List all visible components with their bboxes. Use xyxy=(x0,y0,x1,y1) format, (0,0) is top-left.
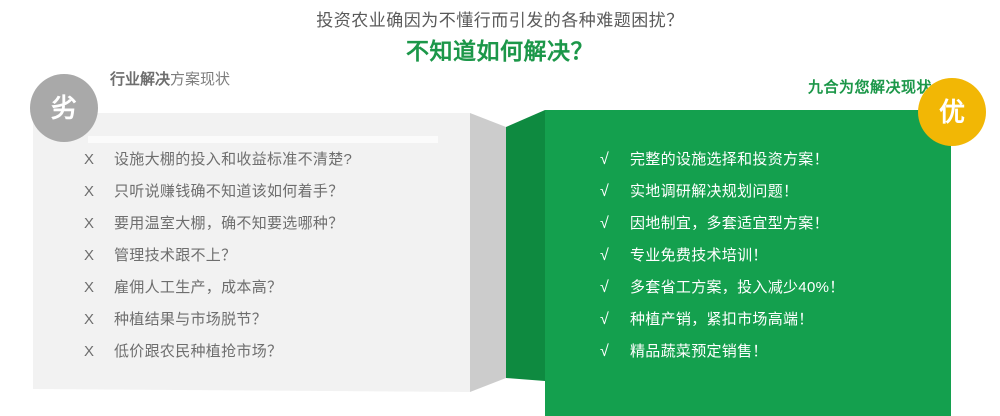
left-panel-title-rest: 方案现状 xyxy=(170,71,230,88)
list-item-label: 低价跟农民种植抢市场？ xyxy=(114,336,282,368)
list-item-label: 种植产销，紧扣市场高端！ xyxy=(630,304,814,336)
list-item-label: 实地调研解决规划问题！ xyxy=(630,176,798,208)
list-item: √ 因地制宜，多套适宜型方案！ xyxy=(600,208,945,240)
badge-inferior: 劣 xyxy=(30,74,98,142)
left-panel-title: 行业解决方案现状 xyxy=(110,70,230,90)
list-item: √ 多套省工方案，投入减少40%！ xyxy=(600,272,945,304)
list-item: X 管理技术跟不上？ xyxy=(84,240,444,272)
list-item-label: 专业免费技术培训！ xyxy=(630,240,768,272)
list-item-label: 管理技术跟不上？ xyxy=(114,240,236,272)
list-item-label: 只听说赚钱确不知道该如何着手？ xyxy=(114,176,344,208)
list-item: X 雇佣人工生产，成本高？ xyxy=(84,272,444,304)
solution-list: √ 完整的设施选择和投资方案！ √ 实地调研解决规划问题！ √ 因地制宜，多套适… xyxy=(600,144,945,368)
list-item: X 种植结果与市场脱节？ xyxy=(84,304,444,336)
cross-icon: X xyxy=(84,208,114,240)
left-panel-highlight xyxy=(88,136,438,143)
list-item: √ 完整的设施选择和投资方案！ xyxy=(600,144,945,176)
check-icon: √ xyxy=(600,336,630,368)
cross-icon: X xyxy=(84,304,114,336)
list-item: X 只听说赚钱确不知道该如何着手？ xyxy=(84,176,444,208)
headline-line-2: 不知道如何解决？ xyxy=(0,34,1000,68)
list-item-label: 要用温室大棚，确不知要选哪种？ xyxy=(114,208,344,240)
check-icon: √ xyxy=(600,272,630,304)
left-panel-fold xyxy=(470,113,506,392)
list-item-label: 设施大棚的投入和收益标准不清楚? xyxy=(114,144,352,176)
check-icon: √ xyxy=(600,176,630,208)
list-item: √ 专业免费技术培训！ xyxy=(600,240,945,272)
list-item-label: 因地制宜，多套适宜型方案！ xyxy=(630,208,829,240)
headline-line-1: 投资农业确因为不懂行而引发的各种难题困扰？ xyxy=(0,8,1000,34)
list-item: √ 种植产销，紧扣市场高端！ xyxy=(600,304,945,336)
problem-list: X 设施大棚的投入和收益标准不清楚? X 只听说赚钱确不知道该如何着手？ X 要… xyxy=(84,144,444,368)
cross-icon: X xyxy=(84,144,114,176)
list-item-label: 种植结果与市场脱节？ xyxy=(114,304,267,336)
list-item: X 设施大棚的投入和收益标准不清楚? xyxy=(84,144,444,176)
list-item-label: 雇佣人工生产，成本高？ xyxy=(114,272,282,304)
headline-block: 投资农业确因为不懂行而引发的各种难题困扰？ 不知道如何解决？ xyxy=(0,8,1000,68)
list-item: X 要用温室大棚，确不知要选哪种？ xyxy=(84,208,444,240)
list-item: √ 精品蔬菜预定销售！ xyxy=(600,336,945,368)
list-item: X 低价跟农民种植抢市场？ xyxy=(84,336,444,368)
list-item-label: 精品蔬菜预定销售！ xyxy=(630,336,768,368)
cross-icon: X xyxy=(84,240,114,272)
list-item: √ 实地调研解决规划问题！ xyxy=(600,176,945,208)
infographic-canvas: 投资农业确因为不懂行而引发的各种难题困扰？ 不知道如何解决？ 行业解决方案现状 … xyxy=(0,0,1000,416)
left-panel-title-strong: 行业解决 xyxy=(110,71,170,88)
check-icon: √ xyxy=(600,240,630,272)
check-icon: √ xyxy=(600,144,630,176)
right-panel-title: 九合为您解决现状 xyxy=(808,78,932,98)
right-panel-fold xyxy=(506,110,545,381)
list-item-label: 多套省工方案，投入减少40%！ xyxy=(630,272,845,304)
check-icon: √ xyxy=(600,304,630,336)
check-icon: √ xyxy=(600,208,630,240)
list-item-label: 完整的设施选择和投资方案！ xyxy=(630,144,829,176)
cross-icon: X xyxy=(84,272,114,304)
cross-icon: X xyxy=(84,336,114,368)
cross-icon: X xyxy=(84,176,114,208)
badge-superior: 优 xyxy=(918,78,986,146)
